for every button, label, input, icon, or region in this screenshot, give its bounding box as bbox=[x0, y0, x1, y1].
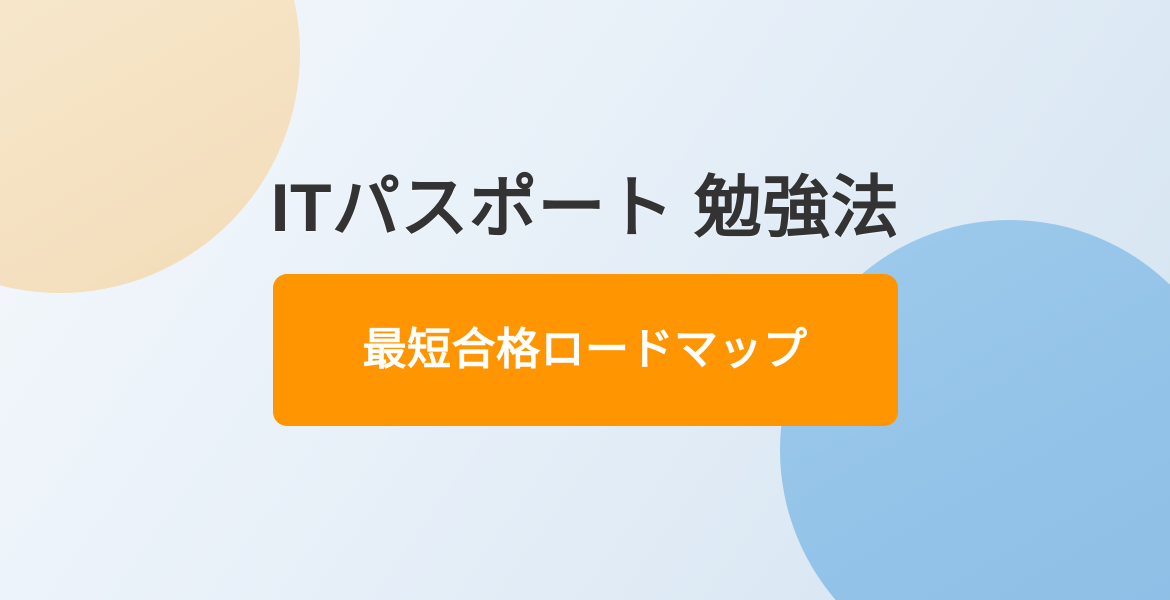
roadmap-cta-button[interactable]: 最短合格ロードマップ bbox=[273, 274, 898, 426]
promo-banner: ITパスポート 勉強法 最短合格ロードマップ bbox=[0, 0, 1170, 600]
page-title: ITパスポート 勉強法 bbox=[271, 174, 900, 242]
banner-content: ITパスポート 勉強法 最短合格ロードマップ bbox=[0, 0, 1170, 600]
